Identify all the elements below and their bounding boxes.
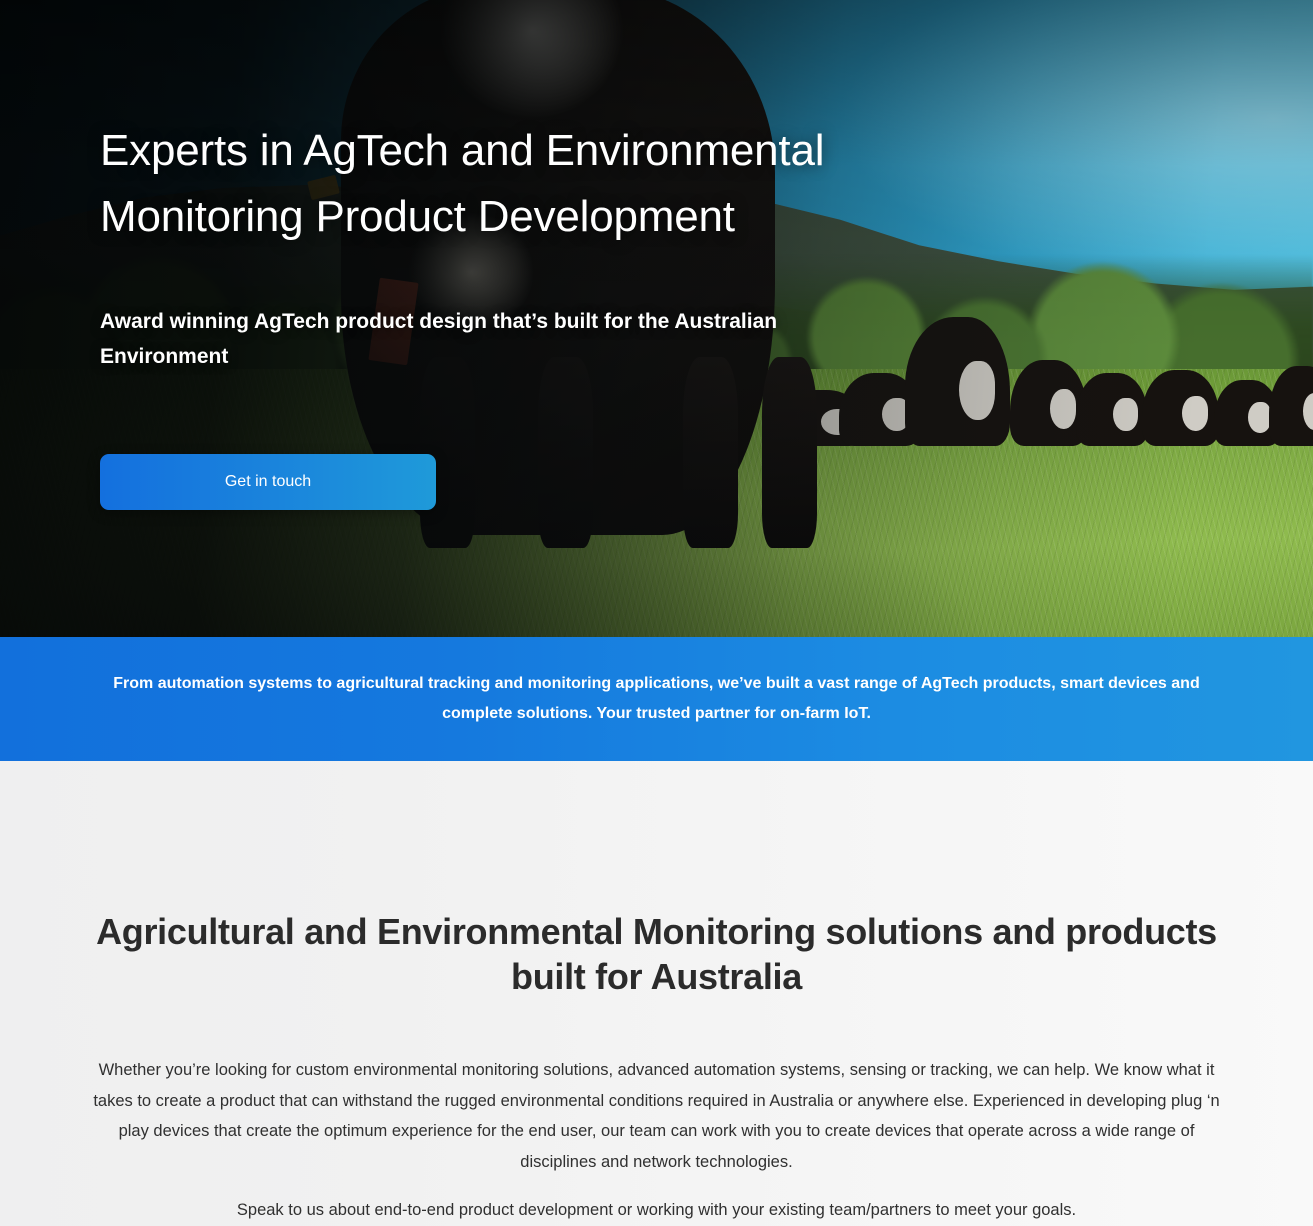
solutions-section: Agricultural and Environmental Monitorin… [0,761,1313,1226]
section-body: Whether you’re looking for custom enviro… [82,1055,1232,1226]
section-heading: Agricultural and Environmental Monitorin… [92,909,1222,999]
hero-title: Experts in AgTech and Environmental Moni… [100,118,1000,250]
hero-content: Experts in AgTech and Environmental Moni… [100,118,1000,510]
section-paragraph-1: Whether you’re looking for custom enviro… [82,1055,1232,1177]
intro-banner-text: From automation systems to agricultural … [82,669,1232,729]
hero-section: Experts in AgTech and Environmental Moni… [0,0,1313,637]
section-paragraph-2: Speak to us about end-to-end product dev… [82,1195,1232,1226]
hero-subtitle: Award winning AgTech product design that… [100,304,800,374]
intro-banner: From automation systems to agricultural … [0,637,1313,761]
get-in-touch-button[interactable]: Get in touch [100,454,436,510]
